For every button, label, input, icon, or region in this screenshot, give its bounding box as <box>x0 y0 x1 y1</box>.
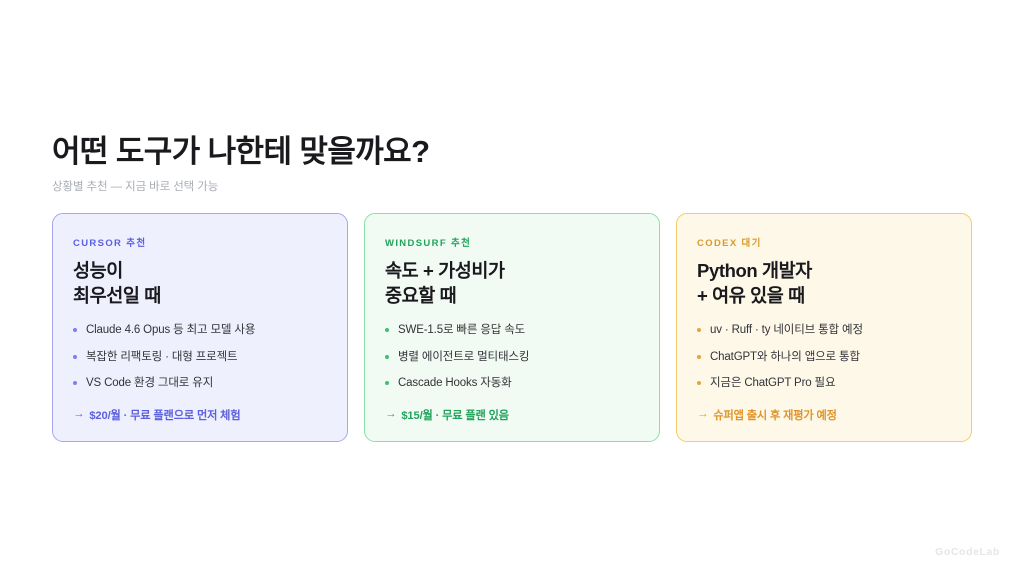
bullet-dot-icon <box>385 328 389 332</box>
slide-root: 어떤 도구가 나한테 맞을까요? 상황별 추천 — 지금 바로 선택 가능 CU… <box>0 0 1024 576</box>
card-heading-windsurf: 속도 + 가성비가 중요할 때 <box>385 259 639 308</box>
card-codex[interactable]: CODEX 대기 Python 개발자 + 여유 있을 때 uv · Ruff … <box>676 213 972 442</box>
bullet-text: ChatGPT와 하나의 앱으로 통합 <box>710 351 860 363</box>
list-item: uv · Ruff · ty 네이티브 통합 예정 <box>697 322 951 338</box>
arrow-right-icon: → <box>73 409 84 421</box>
page-title: 어떤 도구가 나한테 맞을까요? <box>52 134 952 171</box>
card-cta-label: 슈퍼앱 출시 후 재평가 예정 <box>713 407 836 423</box>
bullet-dot-icon <box>385 381 389 385</box>
bullet-text: 지금은 ChatGPT Pro 필요 <box>710 377 835 389</box>
list-item: Cascade Hooks 자동화 <box>385 375 639 391</box>
bullet-dot-icon <box>697 355 701 359</box>
bullet-dot-icon <box>697 381 701 385</box>
list-item: 지금은 ChatGPT Pro 필요 <box>697 375 951 391</box>
bullet-text: 복잡한 리팩토링 · 대형 프로젝트 <box>86 351 237 363</box>
watermark-logo: GoCodeLab <box>935 546 1000 558</box>
arrow-right-icon: → <box>385 409 396 421</box>
card-bullets-codex: uv · Ruff · ty 네이티브 통합 예정 ChatGPT와 하나의 앱… <box>697 322 951 391</box>
card-bullets-windsurf: SWE-1.5로 빠른 응답 속도 병렬 에이전트로 멀티태스킹 Cascade… <box>385 322 639 391</box>
bullet-text: SWE-1.5로 빠른 응답 속도 <box>398 324 525 336</box>
card-eyebrow-codex: CODEX 대기 <box>697 235 951 249</box>
bullet-text: uv · Ruff · ty 네이티브 통합 예정 <box>710 324 863 336</box>
list-item: ChatGPT와 하나의 앱으로 통합 <box>697 349 951 365</box>
list-item: SWE-1.5로 빠른 응답 속도 <box>385 322 639 338</box>
arrow-right-icon: → <box>697 409 708 421</box>
list-item: VS Code 환경 그대로 유지 <box>73 375 327 391</box>
bullet-text: Cascade Hooks 자동화 <box>398 377 512 389</box>
card-cta-codex[interactable]: → 슈퍼앱 출시 후 재평가 예정 <box>697 407 951 423</box>
list-item: 복잡한 리팩토링 · 대형 프로젝트 <box>73 349 327 365</box>
list-item: Claude 4.6 Opus 등 최고 모델 사용 <box>73 322 327 338</box>
bullet-dot-icon <box>73 355 77 359</box>
card-eyebrow-windsurf: WINDSURF 추천 <box>385 235 639 249</box>
card-cta-cursor[interactable]: → $20/월 · 무료 플랜으로 먼저 체험 <box>73 407 327 423</box>
card-cta-windsurf[interactable]: → $15/월 · 무료 플랜 있음 <box>385 407 639 423</box>
card-heading-cursor: 성능이 최우선일 때 <box>73 259 327 308</box>
list-item: 병렬 에이전트로 멀티태스킹 <box>385 349 639 365</box>
bullet-text: VS Code 환경 그대로 유지 <box>86 377 213 389</box>
card-eyebrow-cursor: CURSOR 추천 <box>73 235 327 249</box>
card-heading-codex: Python 개발자 + 여유 있을 때 <box>697 259 951 308</box>
bullet-dot-icon <box>697 328 701 332</box>
page-subtitle: 상황별 추천 — 지금 바로 선택 가능 <box>52 179 952 195</box>
card-cta-label: $15/월 · 무료 플랜 있음 <box>401 407 509 423</box>
card-bullets-cursor: Claude 4.6 Opus 등 최고 모델 사용 복잡한 리팩토링 · 대형… <box>73 322 327 391</box>
card-cursor[interactable]: CURSOR 추천 성능이 최우선일 때 Claude 4.6 Opus 등 최… <box>52 213 348 442</box>
bullet-text: Claude 4.6 Opus 등 최고 모델 사용 <box>86 324 255 336</box>
card-cta-label: $20/월 · 무료 플랜으로 먼저 체험 <box>89 407 240 423</box>
bullet-text: 병렬 에이전트로 멀티태스킹 <box>398 351 529 363</box>
recommendation-cards: CURSOR 추천 성능이 최우선일 때 Claude 4.6 Opus 등 최… <box>52 213 972 442</box>
bullet-dot-icon <box>73 381 77 385</box>
header: 어떤 도구가 나한테 맞을까요? 상황별 추천 — 지금 바로 선택 가능 <box>52 134 952 195</box>
bullet-dot-icon <box>385 355 389 359</box>
card-windsurf[interactable]: WINDSURF 추천 속도 + 가성비가 중요할 때 SWE-1.5로 빠른 … <box>364 213 660 442</box>
bullet-dot-icon <box>73 328 77 332</box>
